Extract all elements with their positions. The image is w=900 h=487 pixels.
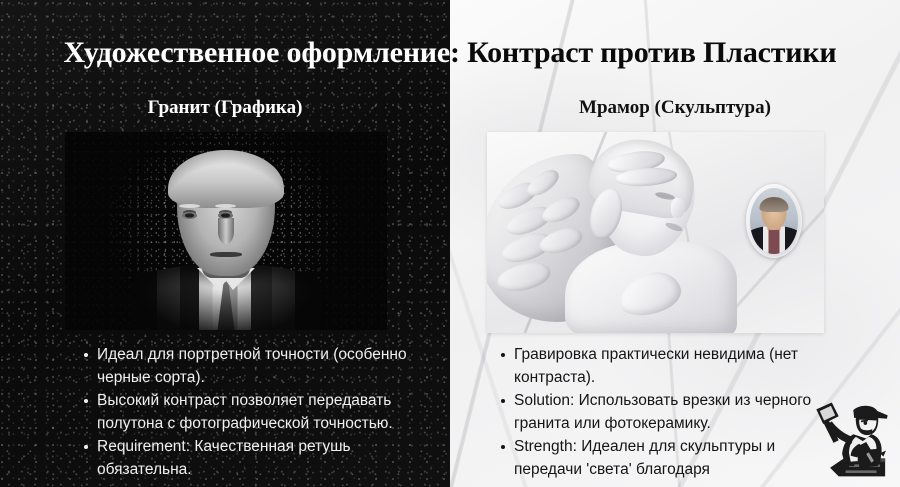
left-column-bullet-list: Идеал для портретной точности (особенно … — [83, 344, 423, 482]
right-column-subtitle: Мрамор (Скульптура) — [450, 94, 900, 122]
list-item: Гравировка практически невидима (нет кон… — [500, 344, 830, 389]
oval-photo-suit — [750, 226, 798, 254]
list-item: Solution: Использовать врезки из черного… — [500, 390, 830, 435]
slide-root: Художественное оформление: Контраст прот… — [0, 0, 900, 487]
left-column-subtitle: Гранит (Графика) — [0, 94, 450, 122]
page-title: Художественное оформление: Контраст прот… — [0, 33, 900, 73]
list-item: Идеал для портретной точности (особенно … — [83, 344, 423, 389]
right-column-bullet-list: Гравировка практически невидима (нет кон… — [500, 344, 830, 487]
list-item: Requirement: Качественная ретушь обязате… — [83, 436, 423, 481]
portrait-vignette — [65, 132, 387, 330]
list-item: Strength: Идеален для скульптуры и перед… — [500, 436, 830, 487]
stonemason-logo-icon — [806, 399, 892, 485]
angel-relief — [495, 138, 735, 333]
granite-engraved-portrait-image — [65, 132, 387, 330]
list-item: Высокий контраст позволяет передавать по… — [83, 390, 423, 435]
marble-angel-sculpture-image — [487, 132, 824, 333]
oval-photoceramic-portrait — [746, 184, 802, 258]
oval-photo-hair — [760, 197, 789, 212]
oval-photo-content — [750, 188, 798, 254]
